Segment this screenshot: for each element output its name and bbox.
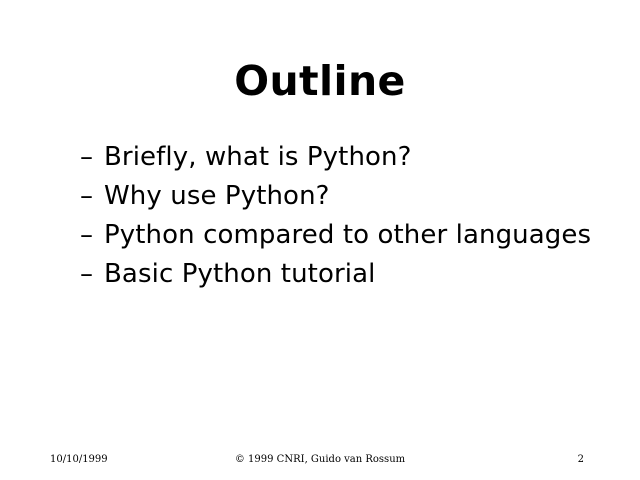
- list-item: – Why use Python?: [80, 177, 620, 216]
- list-item-label: Briefly, what is Python?: [104, 138, 412, 177]
- en-dash-bullet-icon: –: [80, 216, 104, 255]
- list-item-label: Basic Python tutorial: [104, 255, 375, 294]
- en-dash-bullet-icon: –: [80, 255, 104, 294]
- list-item-label: Why use Python?: [104, 177, 330, 216]
- list-item: – Basic Python tutorial: [80, 255, 620, 294]
- en-dash-bullet-icon: –: [80, 177, 104, 216]
- bullet-list: – Briefly, what is Python? – Why use Pyt…: [80, 138, 620, 294]
- list-item: – Briefly, what is Python?: [80, 138, 620, 177]
- slide-footer: 10/10/1999 © 1999 CNRI, Guido van Rossum…: [0, 452, 640, 468]
- en-dash-bullet-icon: –: [80, 138, 104, 177]
- footer-page-number: 2: [578, 452, 584, 468]
- footer-copyright: © 1999 CNRI, Guido van Rossum: [0, 452, 640, 468]
- list-item: – Python compared to other languages: [80, 216, 620, 255]
- list-item-label: Python compared to other languages: [104, 216, 591, 255]
- page-title: Outline: [0, 58, 640, 104]
- presentation-slide: Outline – Briefly, what is Python? – Why…: [0, 0, 640, 480]
